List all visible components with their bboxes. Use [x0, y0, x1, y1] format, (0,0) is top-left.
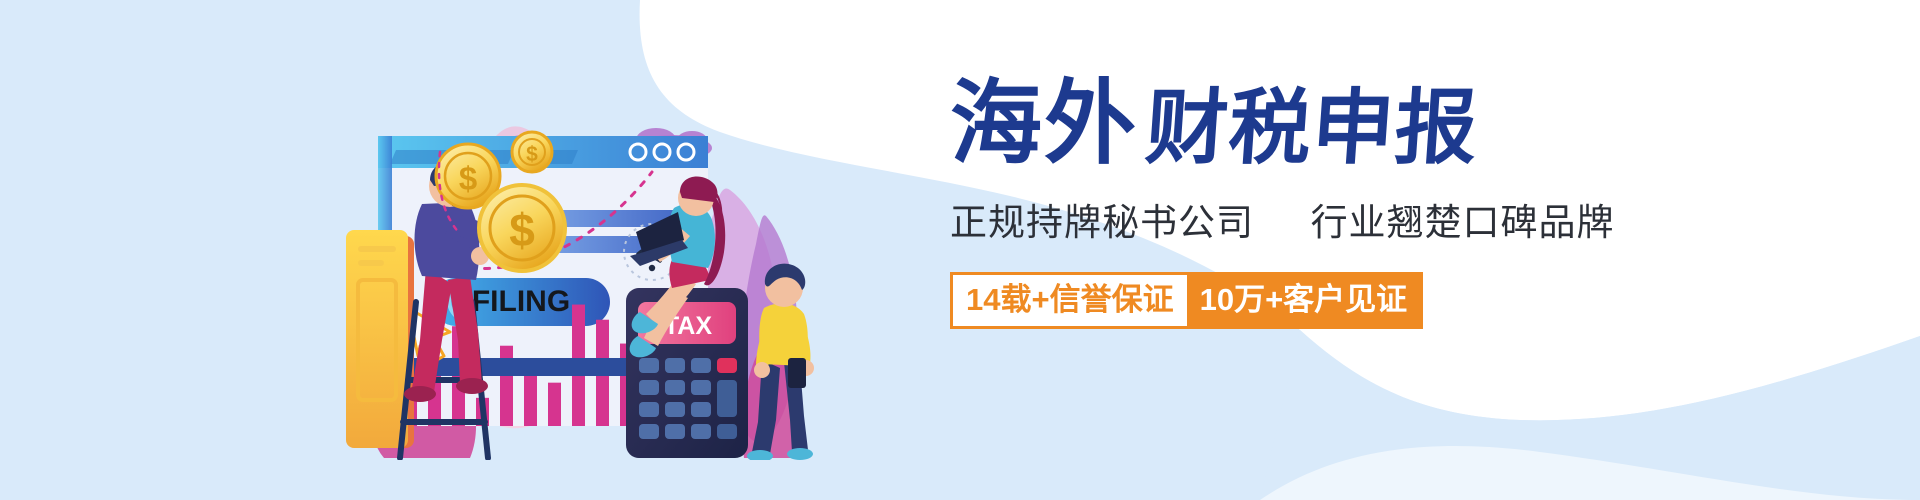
- calculator: TAX: [626, 288, 748, 458]
- chart-bar-upper: [596, 320, 609, 358]
- chart-bar-upper: [572, 305, 585, 358]
- chart-bar-upper: [500, 346, 513, 358]
- svg-text:$: $: [459, 160, 477, 197]
- badge-tenure: 14载+信誉保证: [953, 275, 1187, 326]
- filing-button-label: FILING: [472, 285, 570, 318]
- svg-text:$: $: [509, 204, 535, 256]
- badge-clients: 10万+客户见证: [1187, 275, 1421, 326]
- subheadline-right: 行业翘楚口碑品牌: [1311, 202, 1615, 243]
- subheadline: 正规持牌秘书公司 行业翘楚口碑品牌: [950, 192, 1780, 246]
- headline-primary: 海外: [950, 78, 1138, 170]
- tax-filing-illustration: FILING: [300, 40, 860, 460]
- coin-small: $: [512, 132, 552, 172]
- copy-block: 海外 财税申报 正规持牌秘书公司 行业翘楚口碑品牌 14载+信誉保证 10万+客…: [950, 78, 1780, 329]
- svg-text:$: $: [526, 143, 538, 166]
- headline-secondary: 财税申报: [1143, 88, 1481, 170]
- badge-row: 14载+信誉保证 10万+客户见证: [950, 272, 1423, 329]
- headline: 海外 财税申报: [950, 78, 1780, 170]
- coin-large: $: [479, 185, 565, 271]
- chart-bar: [548, 383, 561, 426]
- subheadline-left: 正规持牌秘书公司: [950, 202, 1254, 243]
- promo-banner: FILING: [0, 0, 1920, 500]
